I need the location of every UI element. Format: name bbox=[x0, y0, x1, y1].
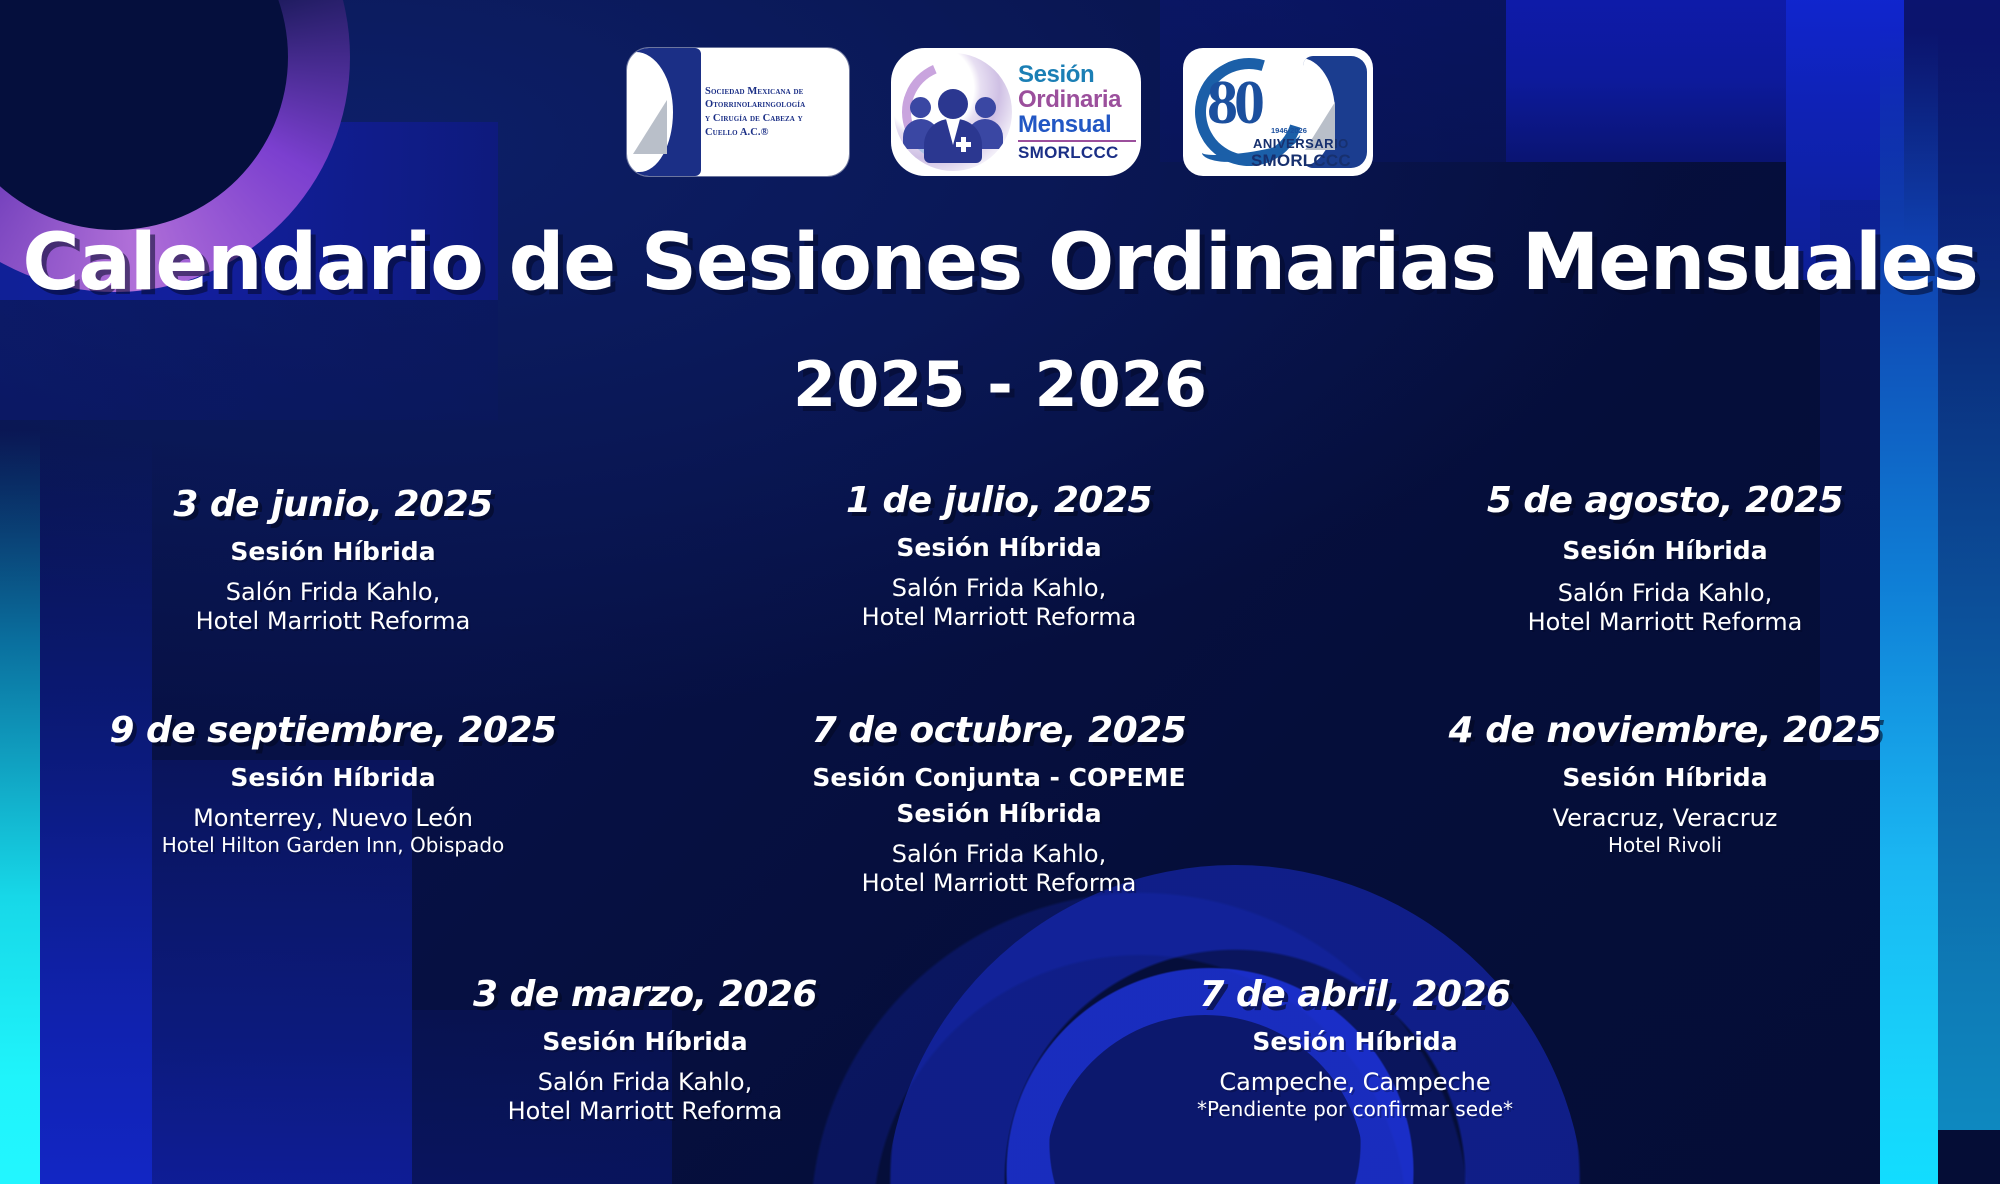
session-venue-note: *Pendiente por confirmar sede* bbox=[1091, 1097, 1619, 1121]
session-venue: Veracruz, Veracruz Hotel Rivoli bbox=[1348, 804, 1982, 858]
session-kind: Sesión Híbrida bbox=[381, 1027, 909, 1056]
society-line-1: Sociedad Mexicana de bbox=[705, 85, 805, 99]
page-title: Calendario de Sesiones Ordinarias Mensua… bbox=[0, 218, 2000, 308]
head-profile-icon bbox=[627, 48, 701, 176]
session-kind: Sesión Híbrida bbox=[1348, 763, 1982, 792]
session-date: 9 de septiembre, 2025 bbox=[16, 710, 650, 751]
session-venue: Salón Frida Kahlo, Hotel Marriott Reform… bbox=[682, 840, 1316, 899]
session-venue-line-1: Salón Frida Kahlo, bbox=[226, 578, 441, 606]
session-date: 7 de octubre, 2025 bbox=[682, 710, 1316, 751]
session-venue-line-1: Monterrey, Nuevo León bbox=[193, 804, 473, 832]
sessions-grid: 3 de junio, 2025 Sesión Híbrida Salón Fr… bbox=[0, 480, 2000, 1127]
session-venue: Salón Frida Kahlo, Hotel Marriott Reform… bbox=[381, 1068, 909, 1127]
sesion-logo-org: SMORLCCC bbox=[1018, 144, 1136, 161]
session-kind: Sesión Híbrida bbox=[16, 763, 650, 792]
session-date: 1 de julio, 2025 bbox=[682, 480, 1316, 521]
page-subtitle: 2025 - 2026 bbox=[0, 348, 2000, 421]
session-date: 3 de junio, 2025 bbox=[16, 484, 650, 525]
session-venue-line-2: Hotel Marriott Reforma bbox=[196, 607, 471, 635]
session-venue-line-1: Salón Frida Kahlo, bbox=[538, 1068, 753, 1096]
sesion-logo-text: Sesión Ordinaria Mensual SMORLCCC bbox=[1012, 63, 1136, 161]
smorlccc-society-logo-text: Sociedad Mexicana de Otorrinolaringologí… bbox=[701, 85, 805, 139]
people-group-icon bbox=[894, 53, 1012, 171]
session-venue: Campeche, Campeche *Pendiente por confir… bbox=[1091, 1068, 1619, 1122]
sessions-row-1: 3 de junio, 2025 Sesión Híbrida Salón Fr… bbox=[0, 480, 2000, 638]
sesion-logo-divider bbox=[1018, 140, 1136, 142]
logo-bar: Sociedad Mexicana de Otorrinolaringologí… bbox=[0, 38, 2000, 186]
person-center-body-icon bbox=[924, 119, 982, 163]
session-kind: Sesión Híbrida bbox=[1091, 1027, 1619, 1056]
session-card: 3 de junio, 2025 Sesión Híbrida Salón Fr… bbox=[0, 480, 666, 638]
session-venue-note: Hotel Rivoli bbox=[1348, 833, 1982, 857]
society-line-3: y Cirugía de Cabeza y bbox=[705, 112, 805, 126]
sesion-logo-line-2: Ordinaria bbox=[1018, 88, 1136, 112]
session-venue: Salón Frida Kahlo, Hotel Marriott Reform… bbox=[682, 574, 1316, 633]
session-venue: Monterrey, Nuevo León Hotel Hilton Garde… bbox=[16, 804, 650, 858]
session-venue-line-1: Salón Frida Kahlo, bbox=[892, 840, 1107, 868]
session-card: 1 de julio, 2025 Sesión Híbrida Salón Fr… bbox=[666, 480, 1332, 638]
session-card: 9 de septiembre, 2025 Sesión Híbrida Mon… bbox=[0, 710, 666, 899]
session-venue-line-1: Veracruz, Veracruz bbox=[1553, 804, 1778, 832]
session-kind-secondary: Sesión Híbrida bbox=[682, 799, 1316, 828]
session-venue-line-1: Salón Frida Kahlo, bbox=[1558, 579, 1773, 607]
sessions-row-3: 3 de marzo, 2026 Sesión Híbrida Salón Fr… bbox=[0, 974, 2000, 1127]
session-card: 3 de marzo, 2026 Sesión Híbrida Salón Fr… bbox=[365, 974, 925, 1127]
medical-cross-icon bbox=[956, 137, 971, 152]
session-kind: Sesión Híbrida bbox=[1348, 536, 1982, 565]
sesion-logo-line-1: Sesión bbox=[1018, 63, 1136, 87]
smorlccc-society-logo: Sociedad Mexicana de Otorrinolaringologí… bbox=[627, 48, 849, 176]
session-venue: Salón Frida Kahlo, Hotel Marriott Reform… bbox=[16, 578, 650, 637]
session-date: 4 de noviembre, 2025 bbox=[1348, 710, 1982, 751]
session-venue: Salón Frida Kahlo, Hotel Marriott Reform… bbox=[1348, 579, 1982, 638]
sesion-logo-line-3: Mensual bbox=[1018, 113, 1136, 137]
session-venue-line-2: Hotel Marriott Reforma bbox=[1528, 608, 1803, 636]
session-card: 7 de octubre, 2025 Sesión Conjunta - COP… bbox=[666, 710, 1332, 899]
person-right-head-icon bbox=[975, 97, 996, 118]
session-kind: Sesión Híbrida bbox=[682, 533, 1316, 562]
session-card: 7 de abril, 2026 Sesión Híbrida Campeche… bbox=[1075, 974, 1635, 1127]
poster-canvas: Sociedad Mexicana de Otorrinolaringologí… bbox=[0, 0, 2000, 1184]
person-left-head-icon bbox=[910, 97, 931, 118]
session-kind: Sesión Híbrida bbox=[16, 537, 650, 566]
anniversary-years: 1946-2026 bbox=[1271, 126, 1307, 135]
society-line-4: Cuello A.C.® bbox=[705, 126, 805, 140]
session-kind: Sesión Conjunta - COPEME bbox=[682, 763, 1316, 792]
session-date: 7 de abril, 2026 bbox=[1091, 974, 1619, 1015]
session-venue-line-2: Hotel Marriott Reforma bbox=[862, 869, 1137, 897]
session-venue-line-2: Hotel Marriott Reforma bbox=[508, 1097, 783, 1125]
person-center-head-icon bbox=[938, 89, 968, 119]
session-venue-line-1: Salón Frida Kahlo, bbox=[892, 574, 1107, 602]
sessions-row-2: 9 de septiembre, 2025 Sesión Híbrida Mon… bbox=[0, 710, 2000, 899]
session-card: 5 de agosto, 2025 Sesión Híbrida Salón F… bbox=[1332, 480, 1998, 638]
session-venue-note: Hotel Hilton Garden Inn, Obispado bbox=[16, 833, 650, 857]
sesion-ordinaria-mensual-logo: Sesión Ordinaria Mensual SMORLCCC bbox=[891, 48, 1141, 176]
eightieth-anniversary-logo: 80 1946-2026 ANIVERSARIO SMORLCCC bbox=[1183, 48, 1373, 176]
session-venue-line-2: Hotel Marriott Reforma bbox=[862, 603, 1137, 631]
session-card: 4 de noviembre, 2025 Sesión Híbrida Vera… bbox=[1332, 710, 1998, 899]
session-date: 3 de marzo, 2026 bbox=[381, 974, 909, 1015]
session-venue-line-1: Campeche, Campeche bbox=[1219, 1068, 1490, 1096]
anniversary-label: ANIVERSARIO bbox=[1253, 136, 1349, 151]
session-date: 5 de agosto, 2025 bbox=[1348, 480, 1982, 521]
society-line-2: Otorrinolaringología bbox=[705, 98, 805, 112]
anniversary-org: SMORLCCC bbox=[1251, 151, 1351, 171]
